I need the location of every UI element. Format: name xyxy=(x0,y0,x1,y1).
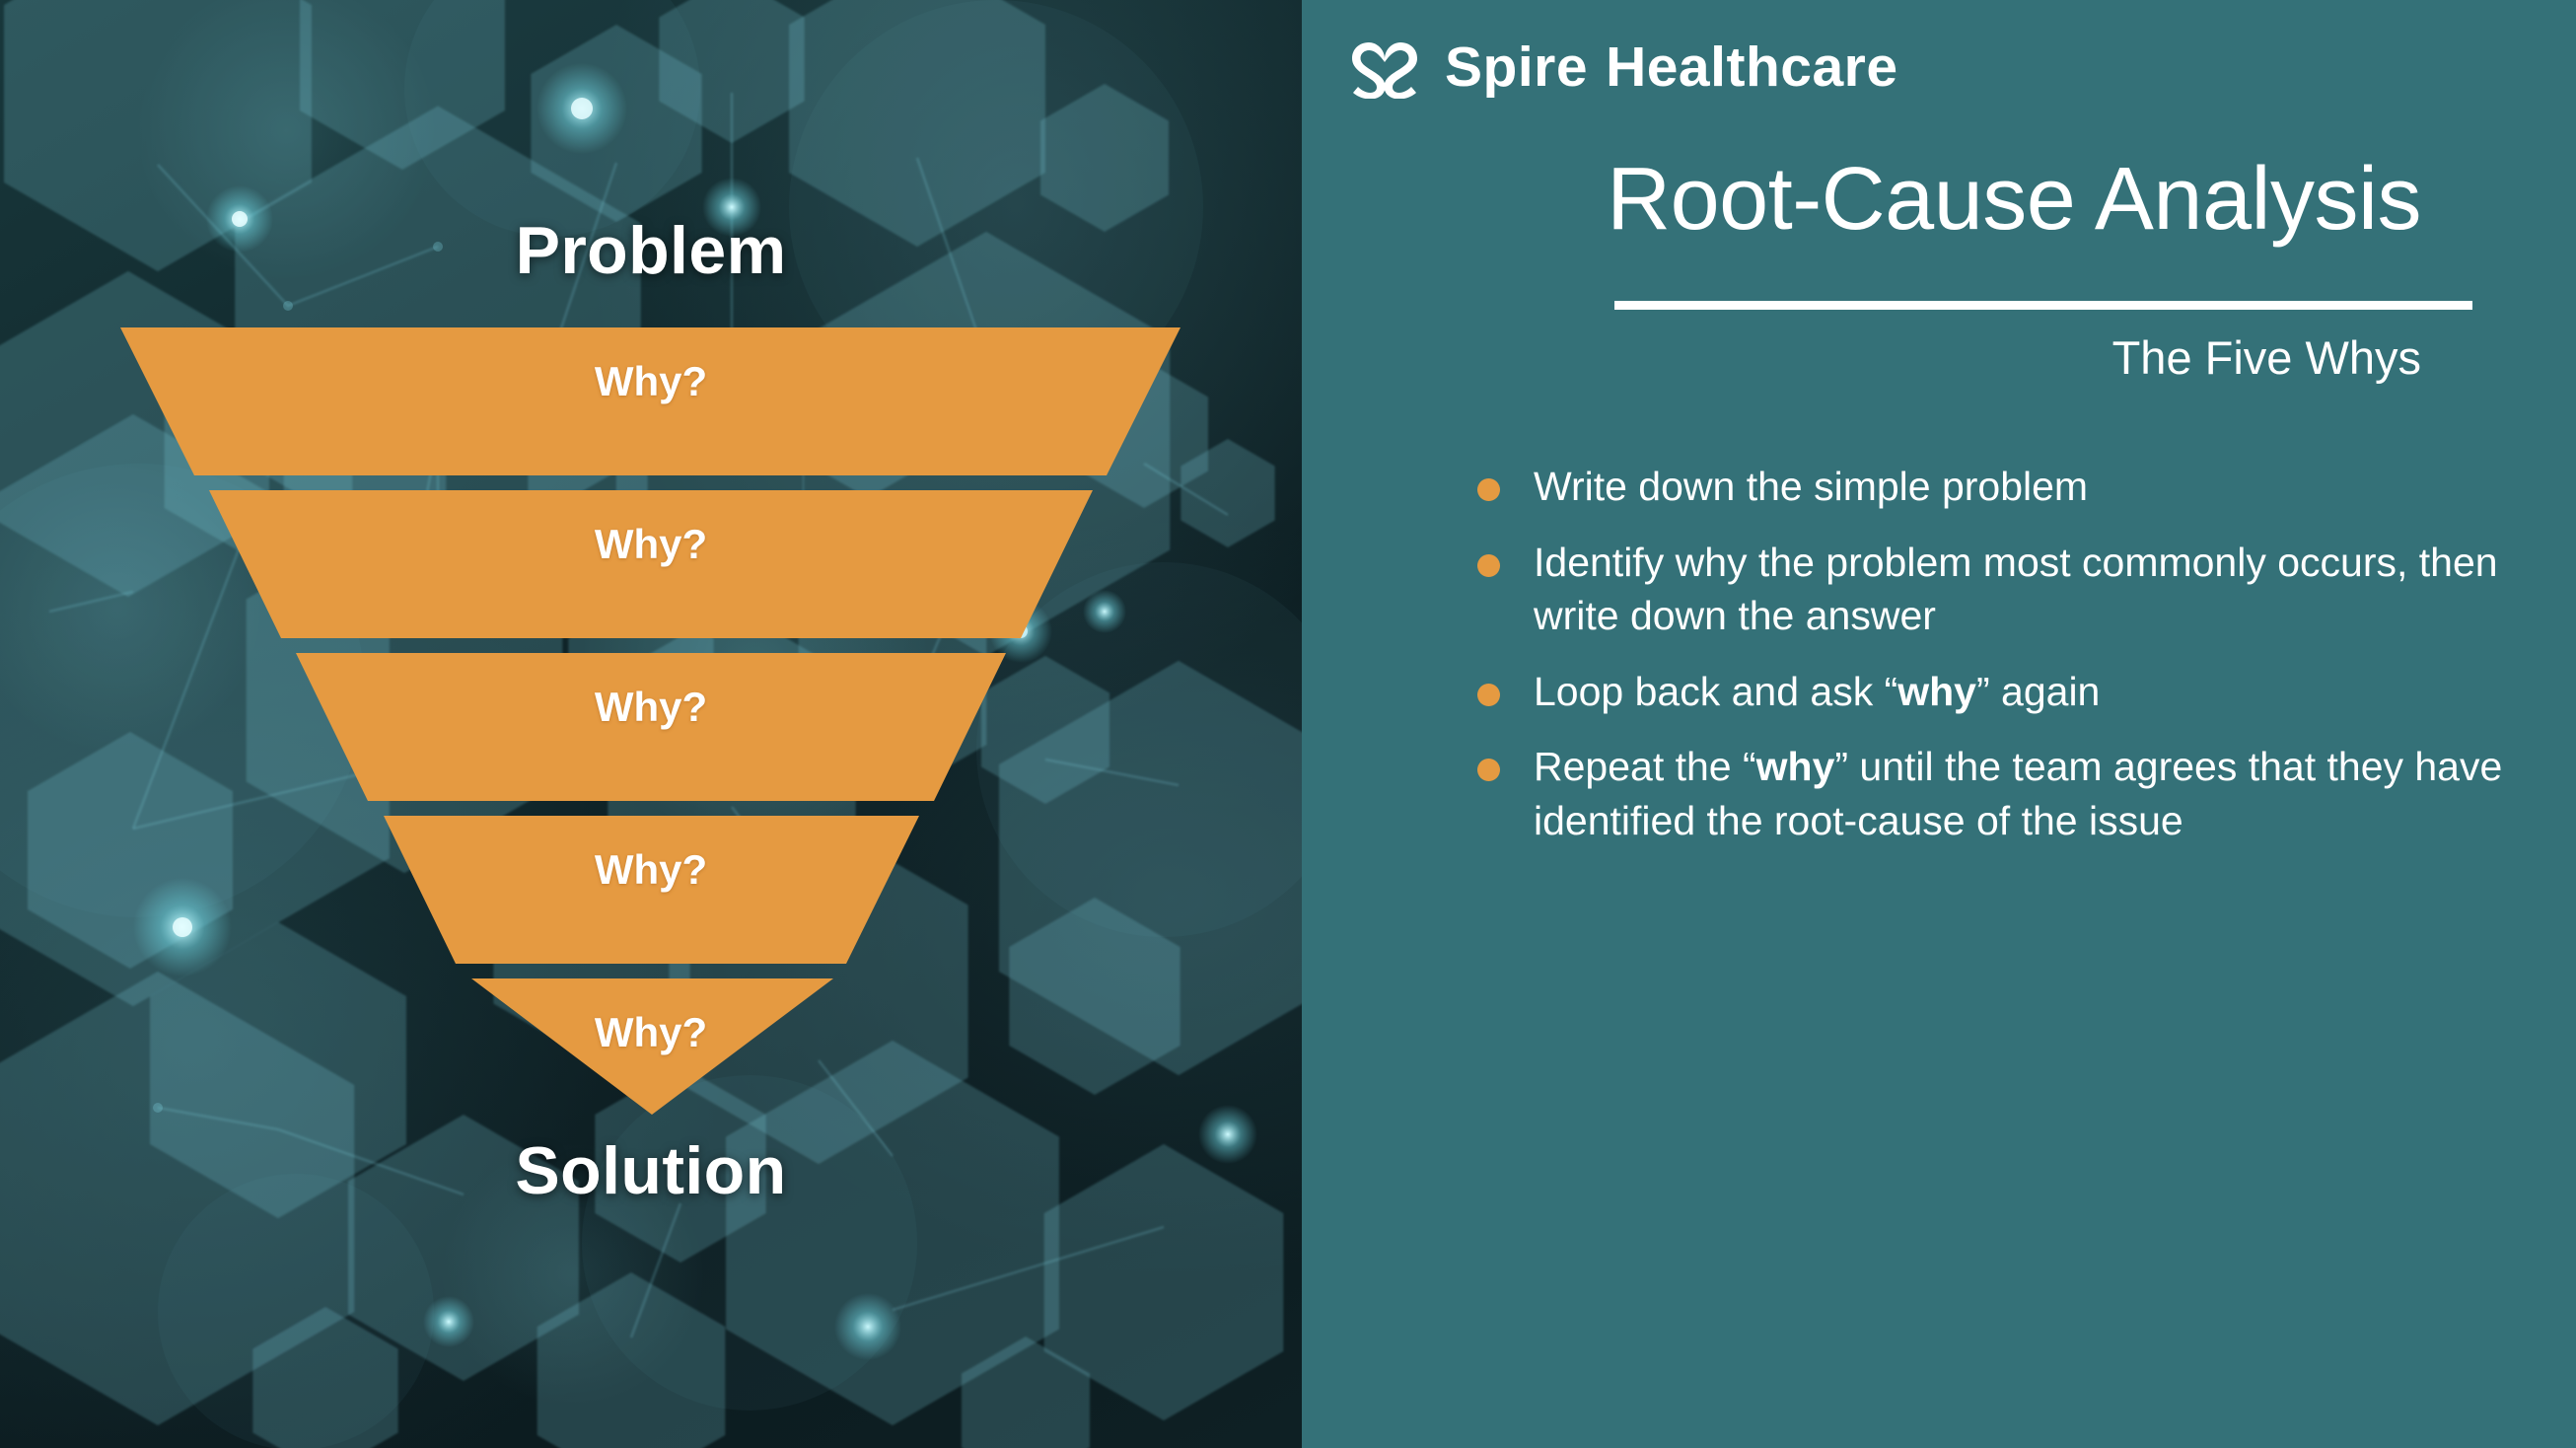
page-subtitle: The Five Whys xyxy=(1331,330,2515,385)
list-item: Loop back and ask “why” again xyxy=(1477,665,2533,719)
funnel-bottom-label: Solution xyxy=(0,1132,1302,1209)
bullet-dot-icon xyxy=(1477,478,1500,501)
funnel-step-label-4: Why? xyxy=(0,846,1302,894)
left-visual-panel: Problem Why? Why? Why? Why? Why? Solutio… xyxy=(0,0,1302,1448)
list-item: Write down the simple problem xyxy=(1477,460,2533,514)
bullet-dot-icon xyxy=(1477,759,1500,781)
list-item-text: Loop back and ask “why” again xyxy=(1534,665,2100,719)
list-item-text: Write down the simple problem xyxy=(1534,460,2088,514)
funnel-step-label-2: Why? xyxy=(0,521,1302,568)
brand-lockup: SpireHealthcare xyxy=(1346,35,1898,100)
right-content-panel: SpireHealthcare Root-Cause Analysis The … xyxy=(1302,0,2576,1448)
bullet-dot-icon xyxy=(1477,684,1500,706)
funnel-step-label-5: Why? xyxy=(0,1009,1302,1056)
page-title: Root-Cause Analysis xyxy=(1331,153,2515,247)
brand-word-two: Healthcare xyxy=(1606,36,1898,99)
five-whys-funnel: Problem Why? Why? Why? Why? Why? Solutio… xyxy=(0,0,1302,1448)
spire-heart-logo-icon xyxy=(1346,36,1423,99)
brand-word-one: Spire xyxy=(1445,36,1588,99)
list-item: Identify why the problem most commonly o… xyxy=(1477,536,2533,643)
brand-name: SpireHealthcare xyxy=(1445,35,1898,100)
bullet-dot-icon xyxy=(1477,554,1500,577)
title-divider-rule xyxy=(1614,301,2472,310)
funnel-top-label: Problem xyxy=(0,212,1302,289)
funnel-step-label-3: Why? xyxy=(0,684,1302,731)
funnel-step-label-1: Why? xyxy=(0,358,1302,405)
list-item: Repeat the “why” until the team agrees t… xyxy=(1477,740,2533,847)
list-item-text: Identify why the problem most commonly o… xyxy=(1534,536,2533,643)
instruction-list: Write down the simple problem Identify w… xyxy=(1477,460,2533,869)
slide-root-cause-analysis: Problem Why? Why? Why? Why? Why? Solutio… xyxy=(0,0,2576,1448)
list-item-text: Repeat the “why” until the team agrees t… xyxy=(1534,740,2533,847)
